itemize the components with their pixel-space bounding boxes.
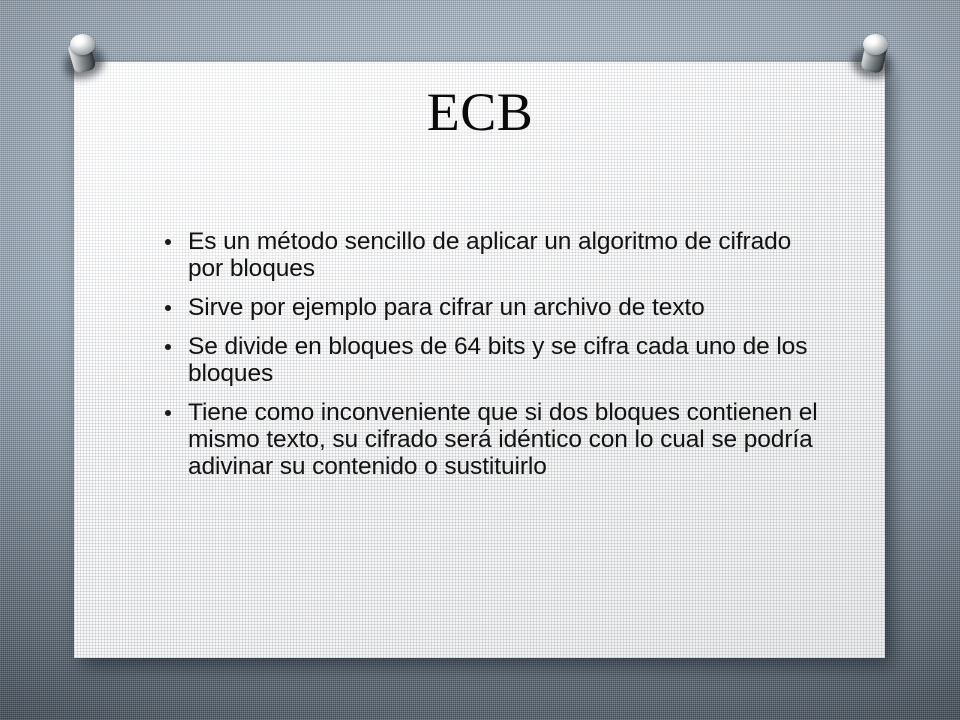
list-item-label: Se divide en bloques de 64 bits y se cif… [188, 333, 818, 387]
pushpin-highlight [75, 37, 84, 44]
bullet-dot-icon [165, 305, 171, 311]
page-title: ECB [0, 84, 960, 141]
list-item: Sirve por ejemplo para cifrar un archivo… [158, 294, 818, 321]
list-item-label: Tiene como inconveniente que si dos bloq… [188, 399, 818, 480]
presentation-slide: ECB Es un método sencillo de aplicar un … [0, 0, 960, 720]
pushpin-icon [852, 30, 898, 82]
pushpin-icon [62, 30, 108, 82]
list-item: Se divide en bloques de 64 bits y se cif… [158, 333, 818, 387]
list-item: Es un método sencillo de aplicar un algo… [158, 228, 818, 282]
bullet-dot-icon [165, 410, 171, 416]
bullet-list: Es un método sencillo de aplicar un algo… [158, 228, 818, 480]
list-item-label: Sirve por ejemplo para cifrar un archivo… [188, 294, 818, 321]
pushpin-highlight [868, 37, 877, 44]
bullet-dot-icon [165, 344, 171, 350]
list-item-label: Es un método sencillo de aplicar un algo… [188, 228, 818, 282]
list-item: Tiene como inconveniente que si dos bloq… [158, 399, 818, 480]
slide-content: ECB Es un método sencillo de aplicar un … [0, 0, 960, 720]
bullet-dot-icon [165, 239, 171, 245]
